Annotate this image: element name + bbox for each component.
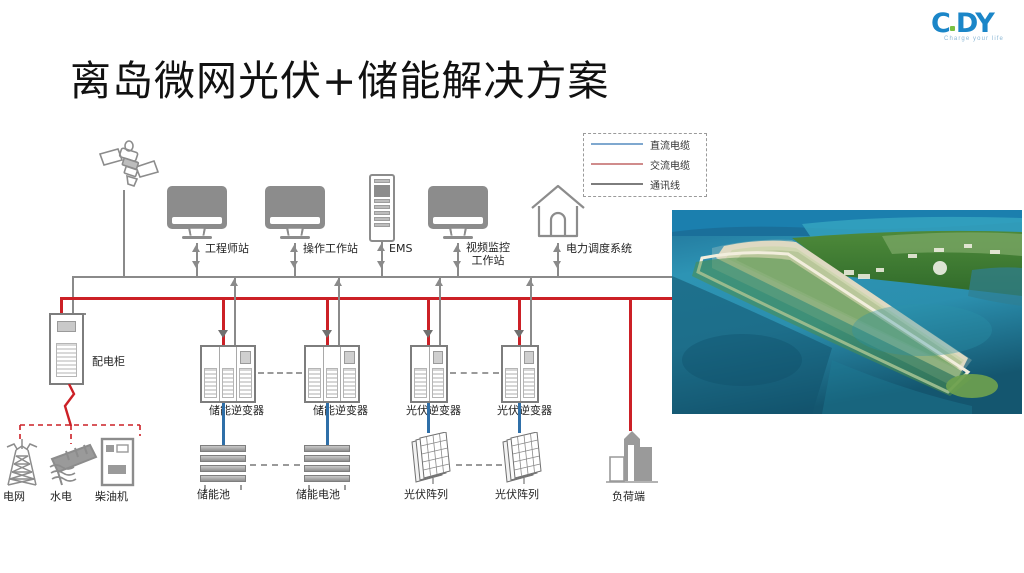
- station-label-operator: 操作工作站: [303, 242, 358, 255]
- station-label-video: 视频监控 工作站: [466, 241, 510, 267]
- arrow-up-icon-inv4: [526, 279, 534, 286]
- comm-drop-inv1: [234, 276, 236, 346]
- arrow-up-icon-dispatch: [553, 245, 561, 252]
- satellite-mast: [123, 190, 125, 277]
- arrow-down-icon-inv1: [218, 330, 228, 338]
- page-title: 离岛微网光伏+储能解决方案: [70, 47, 609, 107]
- arrow-down-icon-dispatch: [553, 261, 561, 268]
- station-label-engineer: 工程师站: [205, 242, 249, 255]
- legend-item-comm: 通讯线: [584, 174, 706, 194]
- inverter-label-4: 光伏逆变器: [497, 404, 552, 417]
- dc-link-inv4: [518, 403, 521, 433]
- station-label-video-line2: 工作站: [472, 254, 505, 267]
- ac-cable-swatch-icon: [591, 163, 643, 165]
- communication-bus: [72, 276, 672, 278]
- arrow-up-icon-ems: [377, 244, 385, 251]
- dashed-link-batteries: [250, 464, 300, 466]
- dc-link-inv3: [427, 403, 430, 433]
- island-aerial-photo: [672, 210, 1022, 414]
- distribution-cabinet-icon: [49, 313, 84, 385]
- legend-label-dc: 直流电缆: [650, 137, 690, 152]
- legend-item-dc: 直流电缆: [584, 134, 706, 154]
- comm-drop-inv2: [338, 276, 340, 346]
- dc-cable-swatch-icon: [591, 143, 643, 145]
- arrow-up-icon-inv2: [334, 279, 342, 286]
- arrow-down-icon-inv3: [423, 330, 433, 338]
- dc-link-inv1: [222, 403, 225, 445]
- comm-line-swatch-icon: [591, 183, 643, 185]
- comm-drop-inv4: [530, 276, 532, 346]
- monitor-icon-video: [428, 186, 488, 243]
- inverter-label-3: 光伏逆变器: [406, 404, 461, 417]
- arrow-down-icon-engineer: [192, 261, 200, 268]
- station-label-ems: EMS: [389, 242, 412, 255]
- dashed-link-pv-arrays: [456, 464, 502, 466]
- dashed-link-inverters-storage: [258, 372, 302, 374]
- logo-mark: CDY: [931, 10, 1017, 37]
- logo-tagline: Charge your life: [931, 36, 1017, 42]
- inverter-cabinet-icon-4: [501, 345, 539, 403]
- source-label-grid: 电网: [3, 490, 25, 503]
- ac-bus: [60, 297, 673, 300]
- brand-logo: CDY Charge your life: [931, 10, 1017, 44]
- device-label-battery-2: 储能电池: [296, 488, 340, 501]
- logo-letter-c: C: [931, 8, 950, 39]
- comm-bus-left-riser: [72, 276, 74, 314]
- ac-zigzag-connector: [52, 384, 88, 426]
- arrow-down-icon-inv2: [322, 330, 332, 338]
- slide-canvas: CDY Charge your life 离岛微网光伏+储能解决方案 直流电缆 …: [0, 0, 1024, 573]
- station-label-dispatch: 电力调度系统: [566, 242, 632, 255]
- monitor-icon-operator: [265, 186, 325, 243]
- house-icon-dispatch: [527, 180, 589, 242]
- station-label-video-line1: 视频监控: [466, 241, 510, 254]
- hydro-power-icon: [48, 441, 100, 487]
- arrow-down-icon-ems: [377, 261, 385, 268]
- ac-bus-right-drop: [629, 297, 632, 431]
- arrow-down-icon-inv4: [514, 330, 524, 338]
- arrow-down-icon-video: [453, 261, 461, 268]
- dc-link-inv2: [326, 403, 329, 445]
- legend-label-comm: 通讯线: [650, 177, 680, 192]
- inverter-label-2: 储能逆变器: [313, 404, 368, 417]
- inverter-cabinet-icon-3: [410, 345, 448, 403]
- device-label-battery-1: 储能池: [197, 488, 230, 501]
- diesel-generator-icon: [100, 437, 135, 487]
- logo-dot-icon: [950, 26, 955, 31]
- pv-array-icon-2: [499, 432, 549, 487]
- buildings-icon-load: [602, 425, 662, 487]
- arrow-up-icon-engineer: [192, 245, 200, 252]
- inverter-cabinet-icon-1: [200, 345, 256, 403]
- device-label-pv-1: 光伏阵列: [404, 488, 448, 501]
- pv-array-icon-1: [408, 432, 458, 487]
- load-label: 负荷端: [612, 490, 645, 503]
- battery-rack-icon-2: [304, 445, 350, 485]
- arrow-down-icon-operator: [290, 261, 298, 268]
- comm-drop-inv3: [439, 276, 441, 346]
- arrow-up-icon-video: [453, 245, 461, 252]
- arrow-up-icon-operator: [290, 245, 298, 252]
- arrow-up-icon-inv3: [435, 279, 443, 286]
- arrow-up-icon-inv1: [230, 279, 238, 286]
- dashed-link-inverters-pv: [450, 372, 499, 374]
- device-label-pv-2: 光伏阵列: [495, 488, 539, 501]
- inverter-cabinet-icon-2: [304, 345, 360, 403]
- logo-letters-dy: DY: [956, 8, 994, 39]
- distribution-cabinet-label: 配电柜: [92, 355, 125, 368]
- source-label-hydro: 水电: [50, 490, 72, 503]
- legend-label-ac: 交流电缆: [650, 157, 690, 172]
- legend-item-ac: 交流电缆: [584, 154, 706, 174]
- source-label-diesel: 柴油机: [95, 490, 128, 503]
- monitor-icon-engineer: [167, 186, 227, 243]
- inverter-label-1: 储能逆变器: [209, 404, 264, 417]
- battery-rack-icon-1: [200, 445, 246, 485]
- legend: 直流电缆 交流电缆 通讯线: [583, 133, 707, 197]
- satellite-icon: [96, 140, 166, 192]
- server-rack-icon-ems: [369, 174, 395, 242]
- grid-tower-icon: [4, 437, 40, 487]
